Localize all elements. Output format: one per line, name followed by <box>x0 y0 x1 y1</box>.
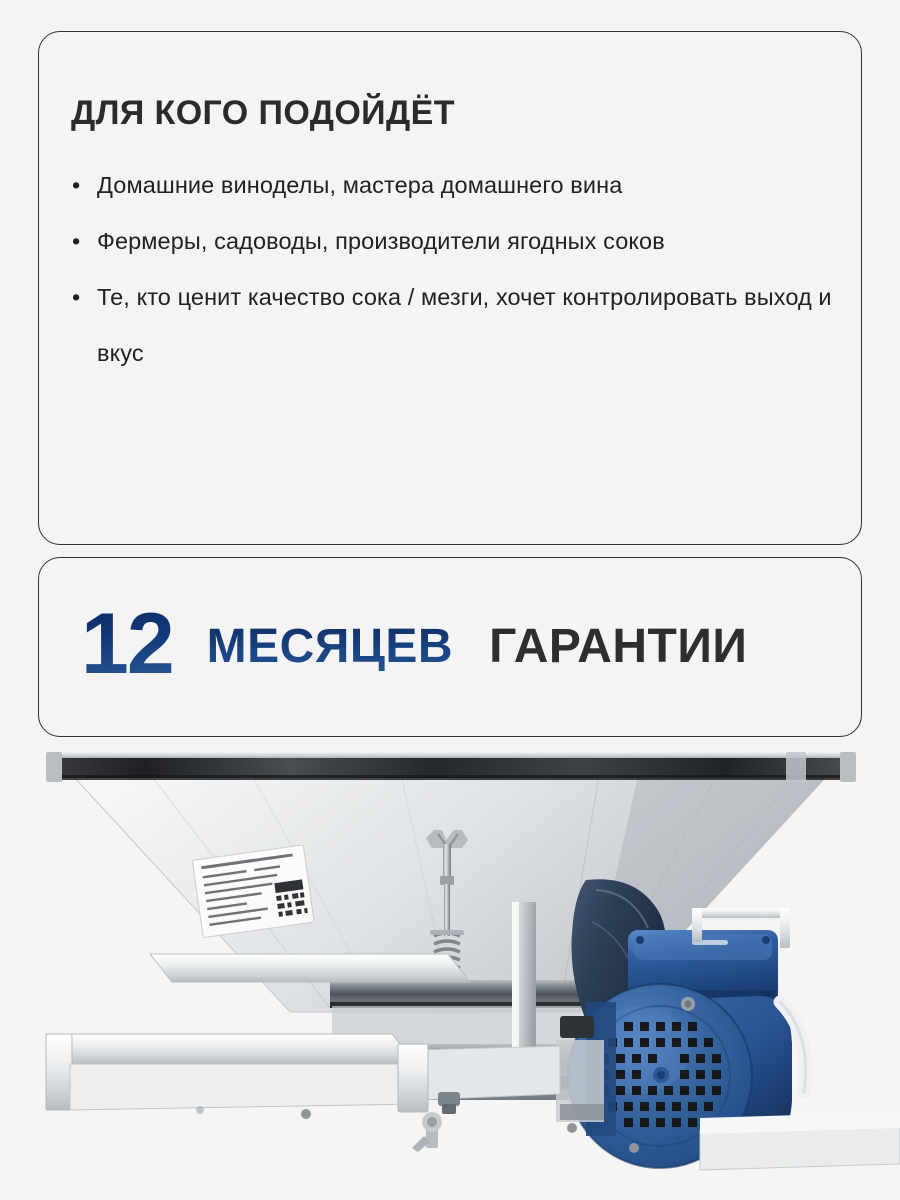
warranty-label: ГАРАНТИИ <box>489 623 747 671</box>
bullet-icon: • <box>72 157 86 213</box>
coupling-cover <box>560 1016 594 1038</box>
list-item-label: Домашние виноделы, мастера домашнего вин… <box>97 172 622 198</box>
product-image: Дробилка для винограда с электродвигател… <box>0 744 900 1200</box>
list-item: • Те, кто ценит качество сока / мезги, х… <box>69 269 835 381</box>
bullet-icon: • <box>72 269 86 325</box>
support-rail-right <box>416 1046 560 1100</box>
list-item-label: Те, кто ценит качество сока / мезги, хоч… <box>97 284 832 366</box>
top-rim-upper <box>48 752 854 759</box>
warranty-number: 12 <box>81 601 173 687</box>
page-title: ДЛЯ КОГО ПОДОЙДЁТ <box>71 94 455 133</box>
screw-nut <box>440 876 454 885</box>
page-root: ДЛЯ КОГО ПОДОЙДЁТ • Домашние виноделы, м… <box>0 0 900 1200</box>
leg-left-cap <box>46 1034 72 1110</box>
support-rail-rear <box>150 954 470 982</box>
product-illustration <box>0 744 900 1200</box>
rail-front-face <box>70 1064 416 1110</box>
rim-cap-left <box>46 752 62 782</box>
list-item: • Фермеры, садоводы, производители ягодн… <box>69 213 835 269</box>
list-item: • Домашние виноделы, мастера домашнего в… <box>69 157 835 213</box>
spec-label <box>192 845 314 938</box>
audience-list: • Домашние виноделы, мастера домашнего в… <box>69 157 835 381</box>
warranty-badge-card: 12 МЕСЯЦЕВ ГАРАНТИИ <box>38 557 862 737</box>
bullet-icon: • <box>72 213 86 269</box>
warranty-months-label: МЕСЯЦЕВ <box>207 623 453 671</box>
rim-cap-right <box>786 752 806 782</box>
screw-shaft <box>444 884 450 936</box>
leg-centre <box>398 1044 428 1112</box>
audience-card: ДЛЯ КОГО ПОДОЙДЁТ • Домашние виноделы, м… <box>38 31 862 545</box>
support-rail-front <box>46 1034 416 1064</box>
motor-mount-bracket <box>556 1002 616 1136</box>
list-item-label: Фермеры, садоводы, производители ягодных… <box>97 228 665 254</box>
